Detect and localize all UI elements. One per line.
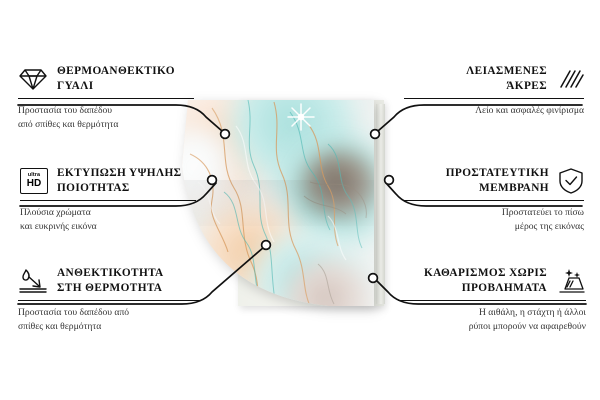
divider <box>404 98 584 100</box>
shield-check-icon <box>558 167 584 195</box>
feature-desc-line1: Προστασία του δαπέδου <box>18 105 112 116</box>
marker-middle-left <box>208 176 217 185</box>
marker-top-right <box>371 130 380 139</box>
feature-title-line2: ΜΕΜΒΡΑΝΗ <box>479 182 549 194</box>
feature-title-line2: ΠΟΙΟΤΗΤΑΣ <box>57 182 130 194</box>
feature-title-line2: ΓΥΑΛΙ <box>57 80 94 92</box>
divider <box>398 300 586 302</box>
feature-title-line1: ΑΝΘΕΚΤΙΚΟΤΗΤΑ <box>57 267 164 279</box>
feature-desc-line1: Πλούσια χρώματα <box>20 207 91 218</box>
connector-markers <box>208 130 394 283</box>
ultra-hd-icon: ultra HD <box>20 168 48 194</box>
feature-title-line1: ΠΡΟΣΤΑΤΕΥΤΙΚΗ <box>446 167 549 179</box>
divider <box>18 98 194 100</box>
feature-heat-resistance: ΑΝΘΕΚΤΙΚΟΤΗΤΑ ΣΤΗ ΘΕΡΜΟΤΗΤΑ Προστασία το… <box>18 266 208 333</box>
feature-title-line1: ΚΑΘΑΡΙΣΜΟΣ ΧΩΡΙΣ <box>424 267 547 279</box>
feature-desc-line2: από σπίθες και θερμότητα <box>18 119 118 130</box>
feature-desc-line1: Προστασία του δαπέδου από <box>18 307 129 318</box>
feature-title-line2: ΣΤΗ ΘΕΡΜΟΤΗΤΑ <box>57 282 162 294</box>
marker-middle-right <box>385 176 394 185</box>
feature-title-line2: ΠΡΟΒΛΗΜΑΤΑ <box>462 282 547 294</box>
polished-edges-icon <box>556 67 584 91</box>
feature-easy-cleaning: ΚΑΘΑΡΙΣΜΟΣ ΧΩΡΙΣ ΠΡΟΒΛΗΜΑΤΑ Η αιθάλη, η … <box>392 266 586 333</box>
feature-desc-line1: Λείο και ασφαλές φινίρισμα <box>475 105 584 116</box>
heat-resistance-icon <box>18 267 48 295</box>
marker-bottom-right <box>369 274 378 283</box>
divider <box>404 200 584 202</box>
divider <box>20 200 196 202</box>
infographic-canvas: ΘΕΡΜΟΑΝΘΕΚΤΙΚΟ ΓΥΑΛΙ Προστασία του δαπέδ… <box>0 0 600 400</box>
easy-cleaning-icon <box>556 267 586 295</box>
feature-desc-line1: Προστατεύει το πίσω <box>502 207 584 218</box>
marker-bottom-left <box>262 241 271 250</box>
feature-desc-line1: Η αιθάλη, η στάχτη ή άλλοι <box>479 307 586 318</box>
feature-polished-edges: ΛΕΙΑΣΜΕΝΕΣ ΆΚΡΕΣ Λείο και ασφαλές φινίρι… <box>396 64 584 118</box>
feature-title-line1: ΕΚΤΥΠΩΣΗ ΥΨΗΛΗΣ <box>57 167 181 179</box>
feature-desc-line2: μέρος της εικόνας <box>515 221 584 232</box>
feature-desc-line2: σπίθες και θερμότητα <box>18 321 101 332</box>
feature-heat-resistant-glass: ΘΕΡΜΟΑΝΘΕΚΤΙΚΟ ΓΥΑΛΙ Προστασία του δαπέδ… <box>18 64 204 131</box>
feature-title-line1: ΘΕΡΜΟΑΝΘΕΚΤΙΚΟ <box>57 65 175 77</box>
marker-top-left <box>221 130 230 139</box>
diamond-icon <box>18 66 48 92</box>
ultra-hd-icon-bottom: HD <box>27 179 41 189</box>
feature-desc-line2: ρύποι μπορούν να αφαιρεθούν <box>469 321 586 332</box>
divider <box>18 300 200 302</box>
feature-title-line1: ΛΕΙΑΣΜΕΝΕΣ <box>466 65 547 77</box>
feature-title-line2: ΆΚΡΕΣ <box>506 80 547 92</box>
feature-high-quality-print: ultra HD ΕΚΤΥΠΩΣΗ ΥΨΗΛΗΣ ΠΟΙΟΤΗΤΑΣ Πλούσ… <box>20 166 204 233</box>
feature-protective-film: ΠΡΟΣΤΑΤΕΥΤΙΚΗ ΜΕΜΒΡΑΝΗ Προστατεύει το πί… <box>396 166 584 233</box>
feature-desc-line2: και ευκρινής εικόνα <box>20 221 97 232</box>
